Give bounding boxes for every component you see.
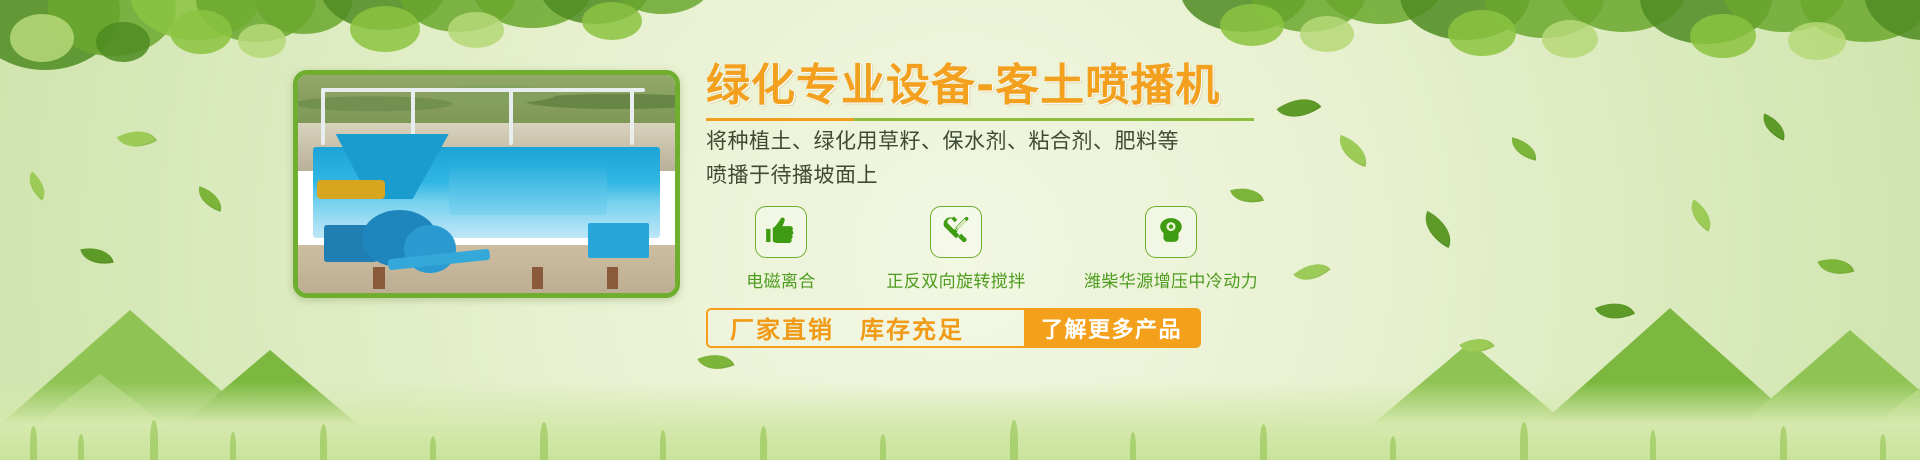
feature-icon-frame [755, 206, 807, 258]
feature-label: 潍柴华源增压中冷动力 [1084, 267, 1258, 292]
feature-label: 电磁离合 [746, 267, 816, 292]
wrench-screwdriver-icon [939, 213, 973, 251]
cta-bar: 厂家直销 库存充足 了解更多产品 [706, 308, 1201, 348]
feature-item-electromagnetic-clutch[interactable]: 电磁离合 [706, 206, 856, 292]
feature-icon-frame [930, 206, 982, 258]
product-photo[interactable] [293, 70, 680, 298]
feature-list: 电磁离合 正反双向旋转搅拌 [706, 206, 1406, 292]
cta-slogans: 厂家直销 库存充足 [708, 310, 1024, 346]
title-divider [706, 118, 1254, 121]
feature-label: 正反双向旋转搅拌 [886, 267, 1025, 292]
feature-icon-frame [1145, 206, 1197, 258]
grass-decoration [0, 382, 1920, 460]
product-photo-image [298, 75, 675, 293]
engine-gear-icon [1154, 213, 1188, 251]
thumbs-up-icon [764, 213, 798, 251]
banner-subtitle-line-1: 将种植土、绿化用草籽、保水剂、粘合剂、肥料等 [706, 128, 1406, 156]
banner-subtitle-line-2: 喷播于待播坡面上 [706, 162, 1406, 190]
slogan-factory-direct: 厂家直销 [730, 310, 834, 345]
learn-more-button[interactable]: 了解更多产品 [1024, 310, 1199, 346]
banner-content: 绿化专业设备-客土喷播机 将种植土、绿化用草籽、保水剂、粘合剂、肥料等 喷播于待… [706, 62, 1406, 348]
feature-item-bidirectional-mixing[interactable]: 正反双向旋转搅拌 [856, 206, 1056, 292]
feature-item-weichai-engine[interactable]: 潍柴华源增压中冷动力 [1056, 206, 1286, 292]
banner-title: 绿化专业设备-客土喷播机 [706, 62, 1406, 110]
promo-banner: 绿化专业设备-客土喷播机 将种植土、绿化用草籽、保水剂、粘合剂、肥料等 喷播于待… [0, 0, 1920, 460]
slogan-stock-sufficient: 库存充足 [860, 310, 964, 345]
